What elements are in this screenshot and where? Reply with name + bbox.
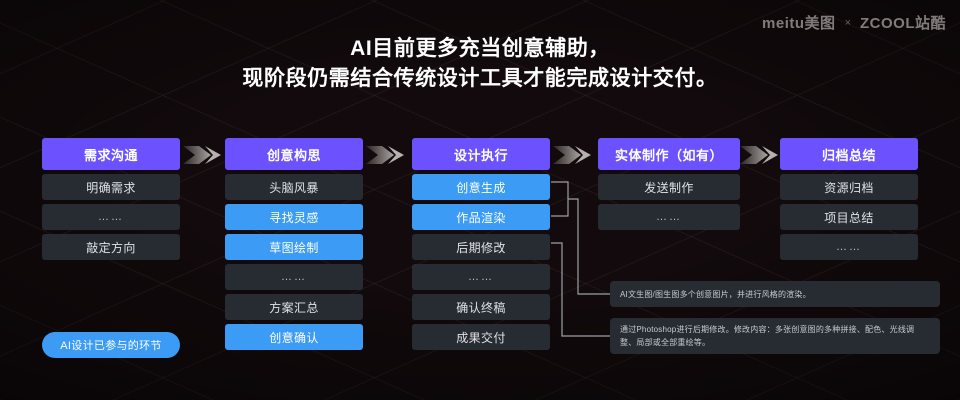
step-item[interactable]: ……: [412, 264, 550, 290]
step-item[interactable]: 成果交付: [412, 324, 550, 350]
stage-header-requirements[interactable]: 需求沟通: [42, 138, 180, 170]
step-item[interactable]: 发送制作: [598, 174, 740, 200]
logo-separator-icon: ×: [845, 17, 851, 29]
meitu-logo-text: meitu美图: [762, 12, 836, 33]
brand-logo: meitu美图 × ZCOOL站酷: [762, 12, 946, 33]
stage-column-execution: 设计执行 创意生成 作品渲染 后期修改 …… 确认终稿 成果交付: [412, 138, 550, 350]
step-item[interactable]: 明确需求: [42, 174, 180, 200]
stage-header-production[interactable]: 实体制作（如有）: [598, 138, 740, 170]
page-title: AI目前更多充当创意辅助， 现阶段仍需结合传统设计工具才能完成设计交付。: [0, 34, 960, 94]
step-item[interactable]: ……: [225, 264, 363, 290]
arrow-right-icon-2: [366, 144, 406, 166]
page-title-line-1: AI目前更多充当创意辅助，: [0, 34, 960, 64]
stage-column-ideation: 创意构思 头脑风暴 寻找灵感 草图绘制 …… 方案汇总 创意确认: [225, 138, 363, 350]
step-item[interactable]: ……: [598, 204, 740, 230]
step-item[interactable]: 确认终稿: [412, 294, 550, 320]
step-item-ai[interactable]: 创意生成: [412, 174, 550, 200]
stage-header-execution[interactable]: 设计执行: [412, 138, 550, 170]
zcool-logo-text: ZCOOL站酷: [860, 12, 946, 33]
step-item-ai[interactable]: 作品渲染: [412, 204, 550, 230]
step-item[interactable]: ……: [42, 204, 180, 230]
annotation-note-1: AI文生图/图生图多个创意图片，并进行风格的渲染。: [610, 281, 940, 307]
stage-header-archive[interactable]: 归档总结: [780, 138, 918, 170]
stage-column-production: 实体制作（如有） 发送制作 ……: [598, 138, 740, 230]
arrow-right-icon-4: [740, 144, 780, 166]
annotation-note-2: 通过Photoshop进行后期修改。修改内容：多张创意图的多种拼接、配色、光线调…: [610, 318, 940, 354]
step-item[interactable]: 后期修改: [412, 234, 550, 260]
step-item[interactable]: 敲定方向: [42, 234, 180, 260]
step-item-ai[interactable]: 寻找灵感: [225, 204, 363, 230]
step-item-ai[interactable]: 草图绘制: [225, 234, 363, 260]
arrow-right-icon-1: [183, 144, 223, 166]
step-item-ai[interactable]: 创意确认: [225, 324, 363, 350]
step-item[interactable]: 头脑风暴: [225, 174, 363, 200]
step-item[interactable]: ……: [780, 234, 918, 260]
stage-column-requirements: 需求沟通 明确需求 …… 敲定方向: [42, 138, 180, 260]
step-item[interactable]: 方案汇总: [225, 294, 363, 320]
stage-column-archive: 归档总结 资源归档 项目总结 ……: [780, 138, 918, 260]
legend-ai-involved: AI设计已参与的环节: [42, 332, 180, 358]
step-item[interactable]: 项目总结: [780, 204, 918, 230]
arrow-right-icon-3: [553, 144, 593, 166]
stage-header-ideation[interactable]: 创意构思: [225, 138, 363, 170]
page-title-line-2: 现阶段仍需结合传统设计工具才能完成设计交付。: [0, 64, 960, 94]
step-item[interactable]: 资源归档: [780, 174, 918, 200]
